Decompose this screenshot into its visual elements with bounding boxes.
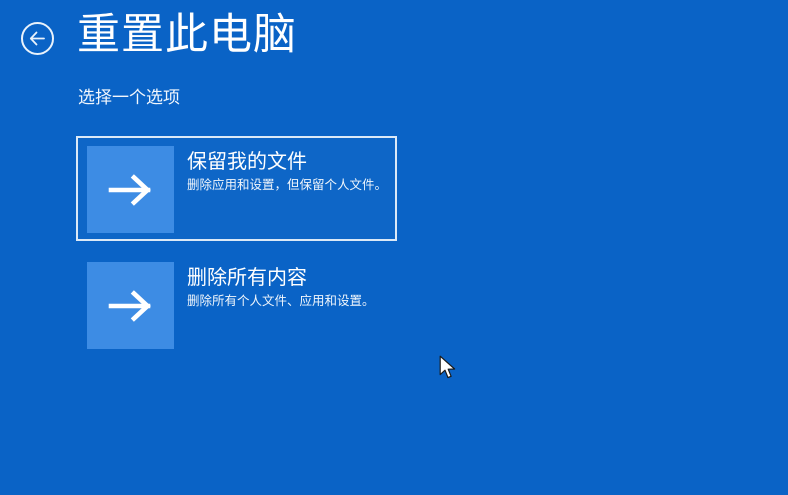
mouse-pointer-icon bbox=[439, 355, 459, 383]
option-text-block: 删除所有内容 删除所有个人文件、应用和设置。 bbox=[174, 262, 375, 310]
option-icon-tile bbox=[87, 262, 174, 349]
back-button[interactable] bbox=[21, 22, 54, 55]
option-text-block: 保留我的文件 删除应用和设置，但保留个人文件。 bbox=[174, 146, 387, 194]
back-arrow-circle-icon bbox=[29, 31, 46, 46]
reset-pc-screen: 重置此电脑 选择一个选项 保留我的文件 删除应用和设置，但保留个人文件。 bbox=[0, 0, 788, 495]
option-keep-my-files[interactable]: 保留我的文件 删除应用和设置，但保留个人文件。 bbox=[76, 136, 397, 241]
page-title: 重置此电脑 bbox=[77, 6, 297, 64]
option-icon-tile bbox=[87, 146, 174, 233]
arrow-right-icon bbox=[108, 173, 154, 207]
page-subtitle: 选择一个选项 bbox=[78, 86, 180, 110]
option-description: 删除应用和设置，但保留个人文件。 bbox=[187, 177, 387, 194]
option-list: 保留我的文件 删除应用和设置，但保留个人文件。 删除所有内容 删除所有个人文件、… bbox=[76, 136, 397, 368]
option-remove-everything[interactable]: 删除所有内容 删除所有个人文件、应用和设置。 bbox=[76, 252, 397, 357]
option-heading: 删除所有内容 bbox=[187, 265, 375, 291]
option-heading: 保留我的文件 bbox=[187, 149, 387, 175]
arrow-right-icon bbox=[108, 289, 154, 323]
option-description: 删除所有个人文件、应用和设置。 bbox=[187, 293, 375, 310]
